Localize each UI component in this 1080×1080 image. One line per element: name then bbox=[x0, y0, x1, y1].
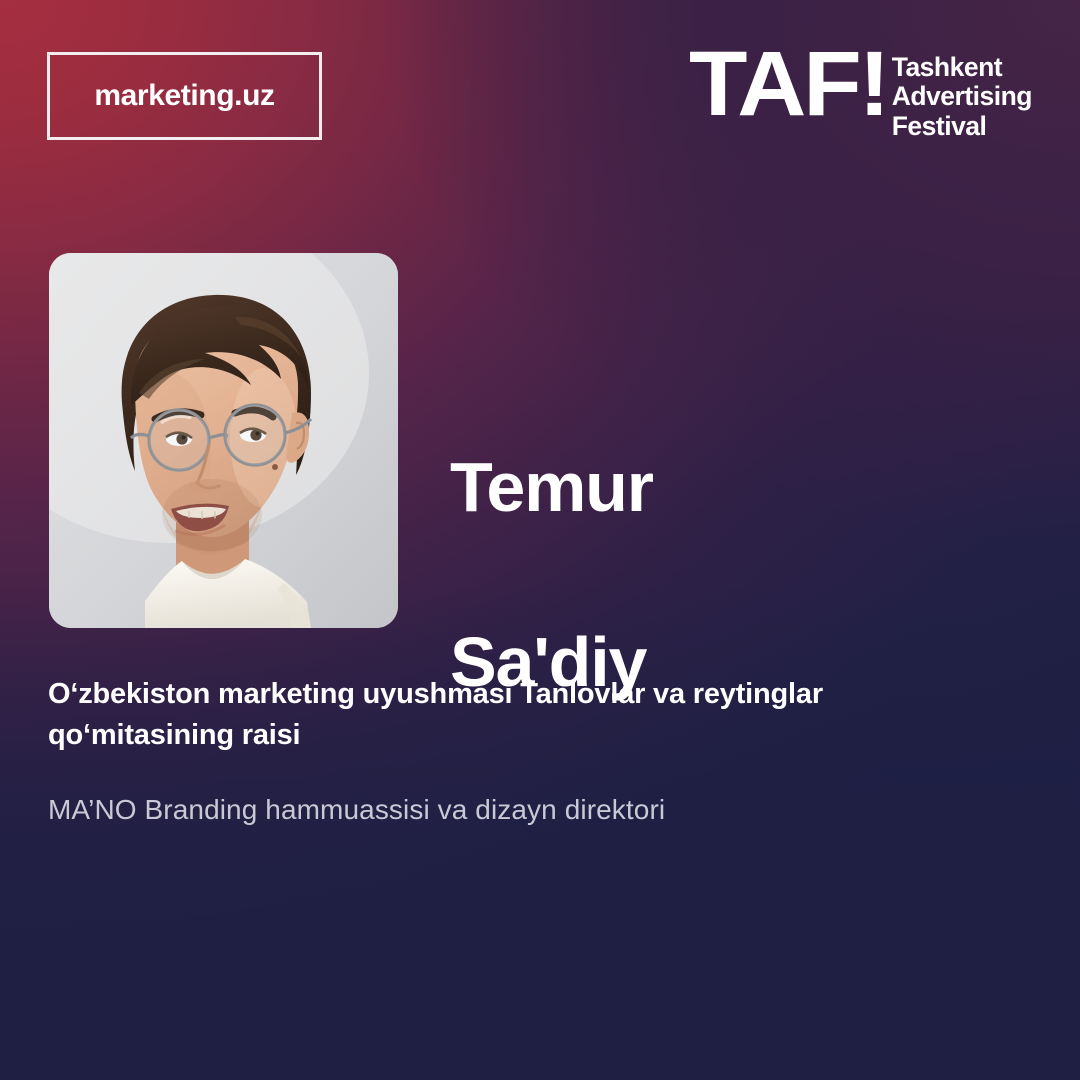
marketing-uz-badge[interactable]: marketing.uz bbox=[47, 52, 322, 140]
speaker-name-line-1: Temur bbox=[450, 444, 653, 532]
taf-fullname: Tashkent Advertising Festival bbox=[892, 45, 1032, 141]
speaker-announcement-card: marketing.uz TAF! Tashkent Advertising F… bbox=[0, 0, 1080, 1080]
speaker-photo bbox=[49, 253, 398, 628]
taf-fullname-line-1: Tashkent bbox=[892, 53, 1032, 82]
taf-logo[interactable]: TAF! Tashkent Advertising Festival bbox=[689, 45, 1032, 141]
taf-wordmark: TAF! bbox=[689, 47, 887, 122]
taf-fullname-line-2: Advertising bbox=[892, 82, 1032, 111]
marketing-uz-label: marketing.uz bbox=[94, 79, 274, 113]
speaker-affiliation: MA’NO Branding hammuassisi va dizayn dir… bbox=[48, 791, 948, 829]
speaker-role: O‘zbekiston marketing uyushmasi Tanlovla… bbox=[48, 674, 948, 756]
taf-fullname-line-3: Festival bbox=[892, 112, 1032, 141]
